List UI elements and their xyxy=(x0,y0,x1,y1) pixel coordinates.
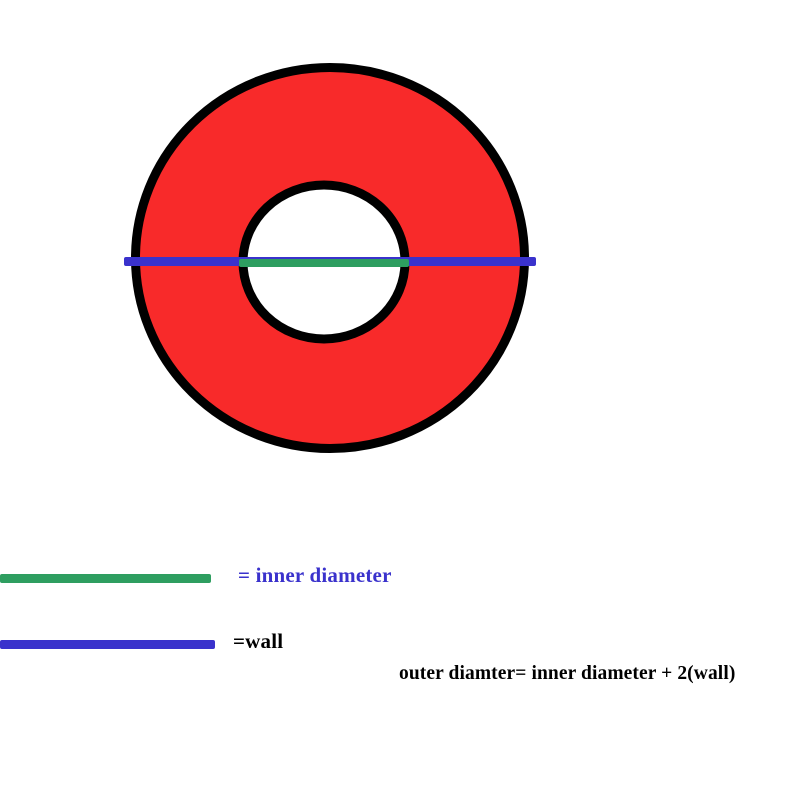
legend-item-inner-diameter: = inner diameter xyxy=(0,562,800,608)
diagram-canvas: = inner diameter =wall outer diamter= in… xyxy=(0,0,800,800)
formula-caption: outer diamter= inner diameter + 2(wall) xyxy=(399,664,735,684)
legend-swatch-green-line xyxy=(0,574,211,583)
inner-diameter-measurement-line xyxy=(239,259,409,267)
legend-label-inner-diameter: = inner diameter xyxy=(238,565,392,586)
legend-swatch-blue-line xyxy=(0,640,215,649)
annulus-diagram xyxy=(0,0,800,520)
legend-label-wall: =wall xyxy=(233,631,283,652)
